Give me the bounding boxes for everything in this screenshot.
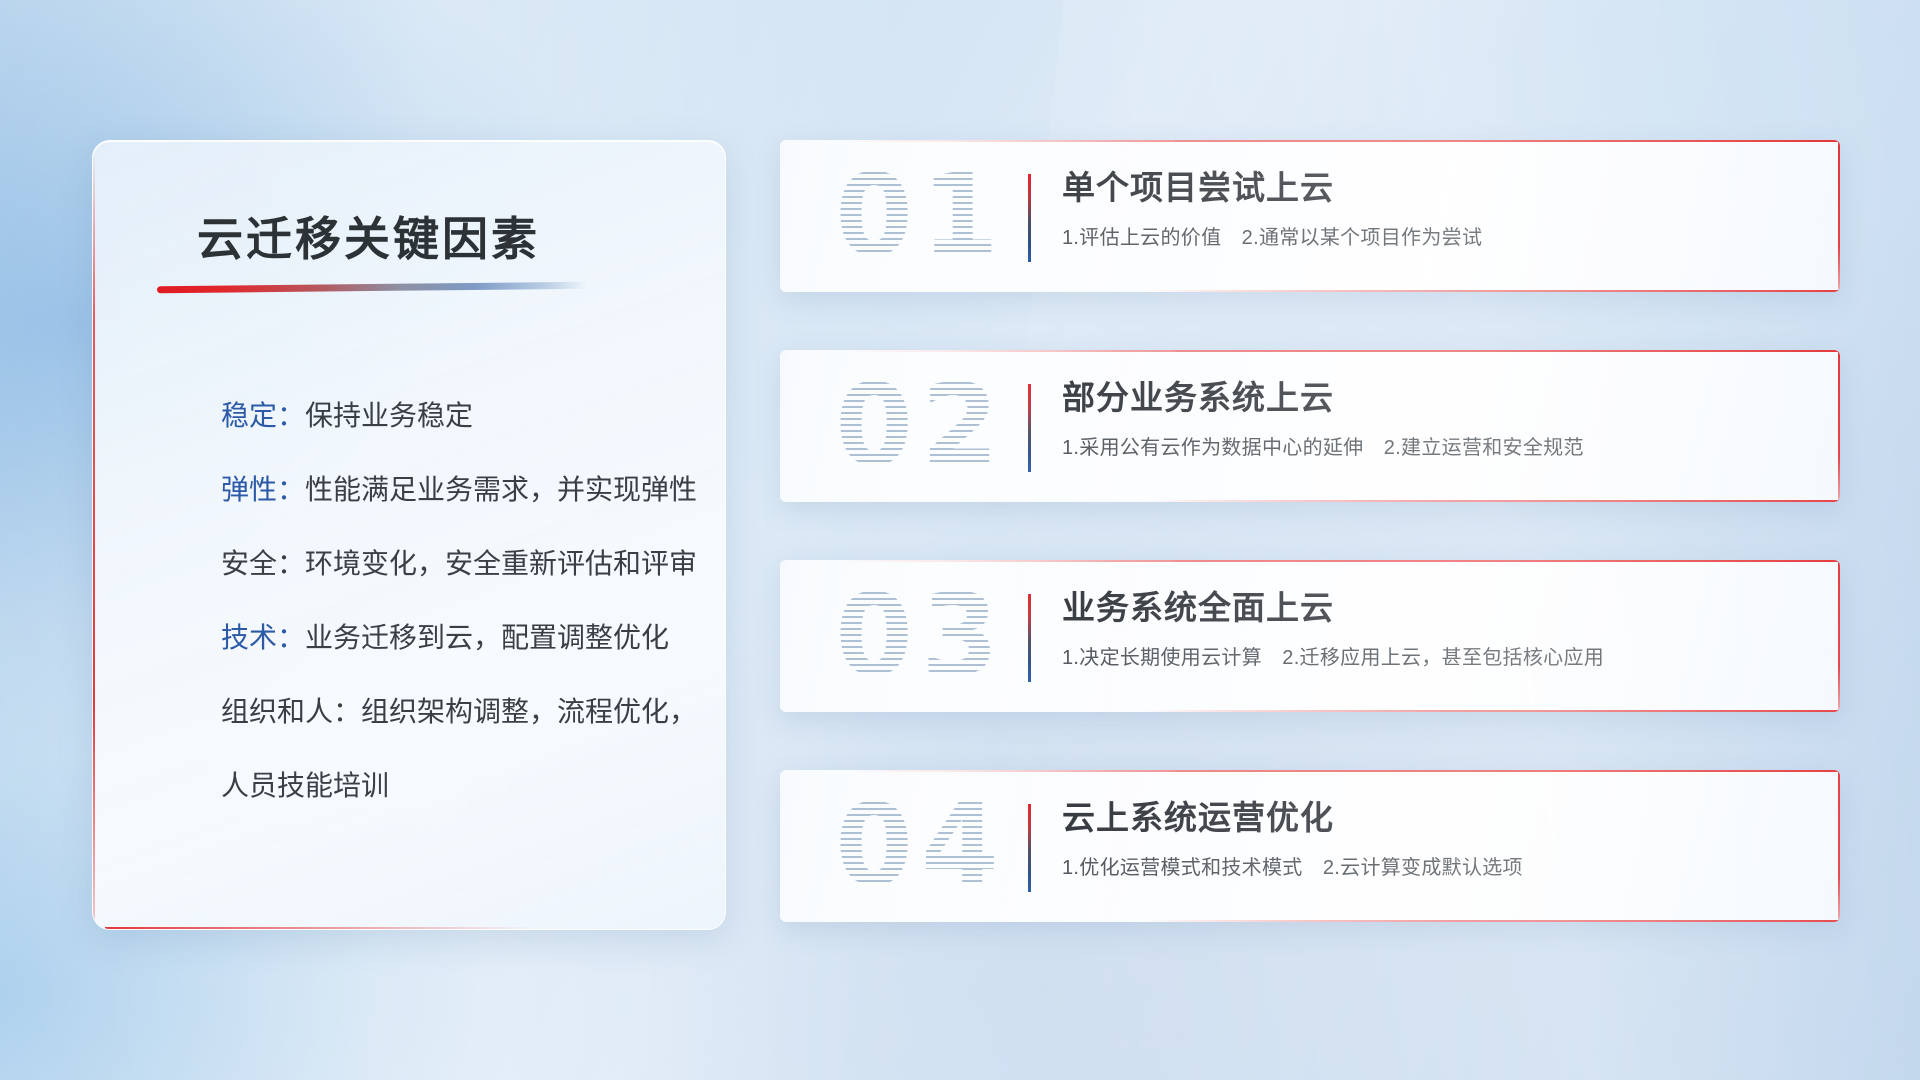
- card-top-accent-line: [844, 350, 1840, 352]
- page-title: 云迁移关键因素: [197, 203, 540, 269]
- factor-label: 弹性：: [221, 474, 305, 505]
- factor-text: 性能满足业务需求，并实现弹性: [305, 474, 697, 505]
- factor-text: 业务迁移到云，配置调整优化: [305, 622, 669, 653]
- list-item: 技术：业务迁移到云，配置调整优化: [221, 601, 685, 675]
- factor-text: 保持业务稳定: [305, 400, 473, 431]
- card-top-accent-line: [844, 140, 1840, 142]
- factor-text: 组织架构调整，流程优化，: [361, 696, 697, 727]
- panel-left-accent-line: [93, 151, 95, 919]
- title-underline-gradient: [157, 282, 587, 294]
- step-number: 04: [806, 778, 1036, 914]
- step-number: 01: [806, 148, 1036, 284]
- step-detail: 1.决定长期使用云计算 2.迁移应用上云，甚至包括核心应用: [1062, 644, 1810, 672]
- key-factors-panel: 云迁移关键因素 稳定：保持业务稳定 弹性：性能满足业务需求，并实现弹性 安全：环…: [92, 140, 726, 930]
- step-number: 03: [806, 568, 1036, 704]
- step-card-03[interactable]: 03 业务系统全面上云 1.决定长期使用云计算 2.迁移应用上云，甚至包括核心应…: [780, 560, 1840, 712]
- factor-label: 技术：: [221, 622, 305, 653]
- list-item: 组织和人：组织架构调整，流程优化，: [221, 675, 685, 749]
- step-heading: 业务系统全面上云: [1062, 586, 1810, 630]
- card-right-accent-line: [1838, 770, 1840, 922]
- list-item: 弹性：性能满足业务需求，并实现弹性: [221, 453, 685, 527]
- step-heading: 单个项目尝试上云: [1062, 166, 1810, 210]
- list-item: 安全：环境变化，安全重新评估和评审: [221, 527, 685, 601]
- step-text-block: 业务系统全面上云 1.决定长期使用云计算 2.迁移应用上云，甚至包括核心应用: [1062, 586, 1810, 672]
- step-detail: 1.优化运营模式和技术模式 2.云计算变成默认选项: [1062, 854, 1810, 882]
- step-card-01[interactable]: 01 单个项目尝试上云 1.评估上云的价值 2.通常以某个项目作为尝试: [780, 140, 1840, 292]
- step-card-02[interactable]: 02 部分业务系统上云 1.采用公有云作为数据中心的延伸 2.建立运营和安全规范: [780, 350, 1840, 502]
- card-bottom-accent-line: [1140, 920, 1840, 922]
- step-text-block: 部分业务系统上云 1.采用公有云作为数据中心的延伸 2.建立运营和安全规范: [1062, 376, 1810, 462]
- card-right-accent-line: [1838, 350, 1840, 502]
- migration-steps-list: 01 单个项目尝试上云 1.评估上云的价值 2.通常以某个项目作为尝试 02 部…: [780, 140, 1840, 980]
- step-card-04[interactable]: 04 云上系统运营优化 1.优化运营模式和技术模式 2.云计算变成默认选项: [780, 770, 1840, 922]
- card-bottom-accent-line: [1140, 290, 1840, 292]
- step-text-block: 云上系统运营优化 1.优化运营模式和技术模式 2.云计算变成默认选项: [1062, 796, 1810, 882]
- step-accent-bar: [1028, 804, 1031, 892]
- factor-text: 环境变化，安全重新评估和评审: [305, 548, 697, 579]
- slide-canvas: 云迁移关键因素 稳定：保持业务稳定 弹性：性能满足业务需求，并实现弹性 安全：环…: [0, 0, 1920, 1080]
- step-heading: 云上系统运营优化: [1062, 796, 1810, 840]
- card-bottom-accent-line: [1140, 500, 1840, 502]
- card-right-accent-line: [1838, 560, 1840, 712]
- card-top-accent-line: [844, 770, 1840, 772]
- step-accent-bar: [1028, 384, 1031, 472]
- factor-text: 人员技能培训: [221, 770, 389, 801]
- list-item: 稳定：保持业务稳定: [221, 379, 685, 453]
- step-heading: 部分业务系统上云: [1062, 376, 1810, 420]
- factor-label: 安全：: [221, 548, 305, 579]
- step-text-block: 单个项目尝试上云 1.评估上云的价值 2.通常以某个项目作为尝试: [1062, 166, 1810, 252]
- card-bottom-accent-line: [1140, 710, 1840, 712]
- step-detail: 1.评估上云的价值 2.通常以某个项目作为尝试: [1062, 224, 1810, 252]
- key-factors-list: 稳定：保持业务稳定 弹性：性能满足业务需求，并实现弹性 安全：环境变化，安全重新…: [221, 379, 685, 823]
- panel-bottom-accent-line: [105, 927, 535, 929]
- step-detail: 1.采用公有云作为数据中心的延伸 2.建立运营和安全规范: [1062, 434, 1810, 462]
- card-top-accent-line: [844, 560, 1840, 562]
- factor-label: 稳定：: [221, 400, 305, 431]
- card-right-accent-line: [1838, 140, 1840, 292]
- list-item-continuation: 人员技能培训: [221, 749, 685, 823]
- step-accent-bar: [1028, 174, 1031, 262]
- step-accent-bar: [1028, 594, 1031, 682]
- step-number: 02: [806, 358, 1036, 494]
- factor-label: 组织和人：: [221, 696, 361, 727]
